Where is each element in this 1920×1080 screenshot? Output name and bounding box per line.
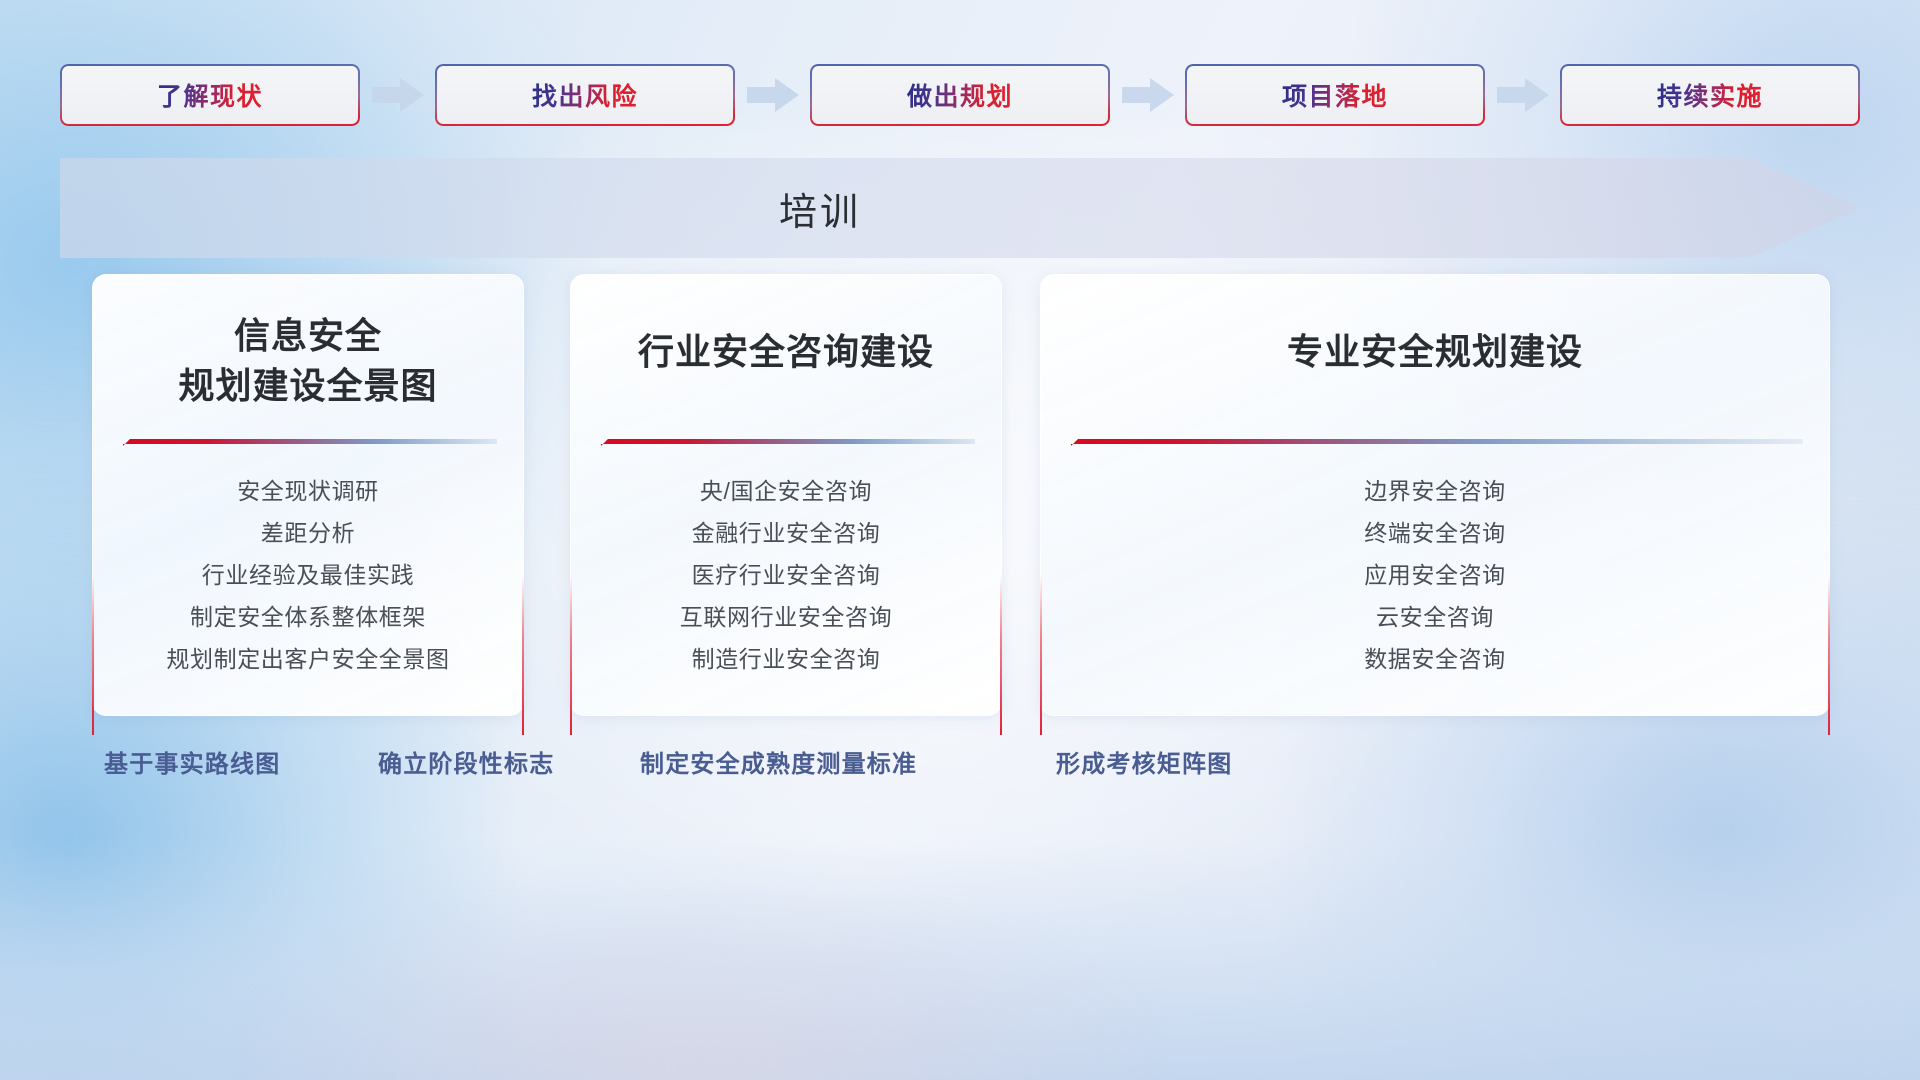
step-label: 做出规划 bbox=[907, 77, 1013, 113]
list-item: 央/国企安全咨询 bbox=[571, 471, 1001, 513]
slide-canvas: 了解现状 找出风险 做出规划 项目落地 bbox=[0, 0, 1920, 1080]
card-divider bbox=[1067, 435, 1803, 449]
background-bottom-warm-tint bbox=[250, 900, 1150, 1080]
card-title-line: 信息安全 bbox=[93, 311, 523, 361]
list-item: 行业经验及最佳实践 bbox=[93, 555, 523, 597]
step-box-5[interactable]: 持续实施 bbox=[1560, 64, 1860, 126]
arrow-right-block-icon bbox=[1110, 77, 1185, 113]
card-industry-security-consulting[interactable]: 行业安全咨询建设 bbox=[570, 274, 1002, 716]
arrow-right-block-icon bbox=[1485, 77, 1560, 113]
card-info-security-panorama[interactable]: 信息安全 规划建设全景图 bbox=[92, 274, 524, 716]
card-title: 信息安全 规划建设全景图 bbox=[93, 311, 523, 410]
footer-label-3: 制定安全成熟度测量标准 bbox=[640, 744, 917, 779]
card-title: 专业安全规划建设 bbox=[1041, 327, 1829, 377]
card-title-line: 规划建设全景图 bbox=[93, 361, 523, 411]
list-item: 制造行业安全咨询 bbox=[571, 639, 1001, 681]
footer-label-2: 确立阶段性标志 bbox=[378, 744, 554, 779]
list-item: 互联网行业安全咨询 bbox=[571, 597, 1001, 639]
card-title-line: 专业安全规划建设 bbox=[1041, 327, 1829, 377]
step-label: 项目落地 bbox=[1282, 77, 1388, 113]
card-list: 央/国企安全咨询 金融行业安全咨询 医疗行业安全咨询 互联网行业安全咨询 制造行… bbox=[571, 471, 1001, 681]
footer-label-4: 形成考核矩阵图 bbox=[1056, 744, 1232, 779]
step-label: 找出风险 bbox=[532, 77, 638, 113]
list-item: 云安全咨询 bbox=[1041, 597, 1829, 639]
card-list: 安全现状调研 差距分析 行业经验及最佳实践 制定安全体系整体框架 规划制定出客户… bbox=[93, 471, 523, 681]
arrow-right-block-icon bbox=[735, 77, 810, 113]
arrow-right-block-icon bbox=[360, 77, 435, 113]
list-item: 安全现状调研 bbox=[93, 471, 523, 513]
list-item: 制定安全体系整体框架 bbox=[93, 597, 523, 639]
footer-labels: 基于事实路线图 确立阶段性标志 制定安全成熟度测量标准 形成考核矩阵图 bbox=[0, 744, 1920, 788]
step-label: 持续实施 bbox=[1657, 77, 1763, 113]
list-item: 数据安全咨询 bbox=[1041, 639, 1829, 681]
list-item: 医疗行业安全咨询 bbox=[571, 555, 1001, 597]
list-item: 应用安全咨询 bbox=[1041, 555, 1829, 597]
training-banner: 培训 bbox=[60, 158, 1860, 258]
list-item: 终端安全咨询 bbox=[1041, 513, 1829, 555]
card-divider bbox=[119, 435, 497, 449]
step-box-3[interactable]: 做出规划 bbox=[810, 64, 1110, 126]
list-item: 规划制定出客户安全全景图 bbox=[93, 639, 523, 681]
banner-label: 培训 bbox=[60, 158, 1580, 258]
card-professional-security-planning[interactable]: 专业安全规划建设 bbox=[1040, 274, 1830, 716]
step-box-1[interactable]: 了解现状 bbox=[60, 64, 360, 126]
list-item: 边界安全咨询 bbox=[1041, 471, 1829, 513]
cards-row: 信息安全 规划建设全景图 bbox=[92, 274, 1830, 716]
card-title: 行业安全咨询建设 bbox=[571, 327, 1001, 377]
step-box-2[interactable]: 找出风险 bbox=[435, 64, 735, 126]
process-steps-row: 了解现状 找出风险 做出规划 项目落地 bbox=[60, 64, 1860, 126]
card-title-line: 行业安全咨询建设 bbox=[571, 327, 1001, 377]
card-list: 边界安全咨询 终端安全咨询 应用安全咨询 云安全咨询 数据安全咨询 bbox=[1041, 471, 1829, 681]
step-label: 了解现状 bbox=[157, 77, 263, 113]
list-item: 金融行业安全咨询 bbox=[571, 513, 1001, 555]
list-item: 差距分析 bbox=[93, 513, 523, 555]
card-divider bbox=[597, 435, 975, 449]
footer-label-1: 基于事实路线图 bbox=[104, 744, 280, 779]
step-box-4[interactable]: 项目落地 bbox=[1185, 64, 1485, 126]
